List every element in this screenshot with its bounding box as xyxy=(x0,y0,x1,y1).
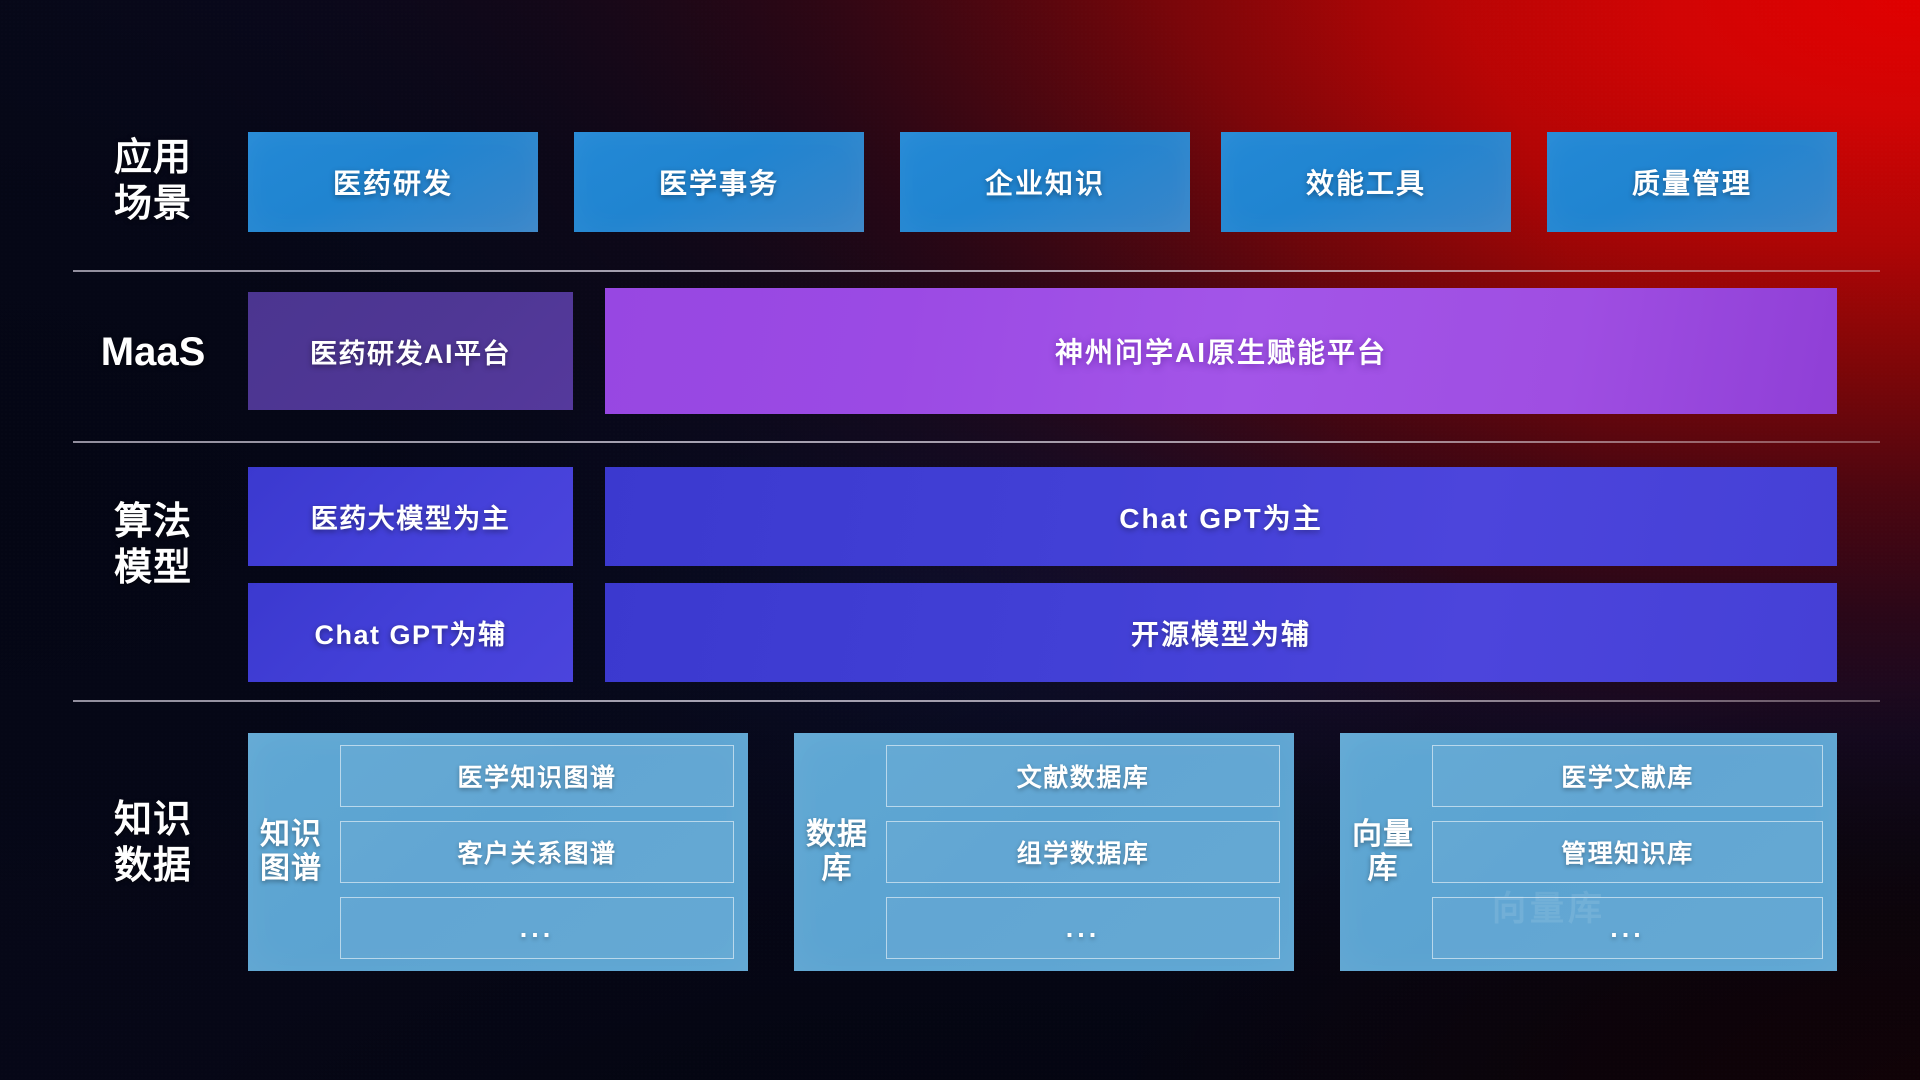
knowledge-panel-database[interactable]: 数据库 文献数据库 组学数据库 ... xyxy=(794,733,1294,971)
row-label-algorithm-line1: 算法 xyxy=(73,500,233,546)
knowledge-panel-database-items: 文献数据库 组学数据库 ... xyxy=(886,745,1280,959)
algorithm-card-row2-right[interactable]: 开源模型为辅 xyxy=(605,583,1837,682)
knowledge-item[interactable]: 医学文献库 xyxy=(1432,745,1823,807)
scenario-card-3-label: 企业知识 xyxy=(985,162,1105,202)
algorithm-card-row2-right-label: 开源模型为辅 xyxy=(1131,613,1311,653)
knowledge-item[interactable]: 文献数据库 xyxy=(886,745,1280,807)
divider-maas-algorithm xyxy=(73,441,1880,443)
row-label-scenarios-line1: 应用 xyxy=(73,136,233,182)
knowledge-panel-vector[interactable]: 向量库 医学文献库 管理知识库 ... 向量库 xyxy=(1340,733,1837,971)
algorithm-card-row1-left-label: 医药大模型为主 xyxy=(311,497,511,536)
knowledge-item[interactable]: 管理知识库 xyxy=(1432,821,1823,883)
algorithm-card-row2-left-label: Chat GPT为辅 xyxy=(314,613,506,652)
row-label-algorithm: 算法 模型 xyxy=(73,500,233,591)
knowledge-item-more[interactable]: ... xyxy=(340,897,734,959)
knowledge-panel-graph-items: 医学知识图谱 客户关系图谱 ... xyxy=(340,745,734,959)
row-label-scenarios: 应用 场景 xyxy=(73,136,233,227)
knowledge-item-more[interactable]: ... xyxy=(886,897,1280,959)
scenario-card-5[interactable]: 质量管理 xyxy=(1547,132,1837,232)
scenario-card-4[interactable]: 效能工具 xyxy=(1221,132,1511,232)
row-label-algorithm-line2: 模型 xyxy=(73,546,233,592)
knowledge-panel-database-title: 数据库 xyxy=(806,745,868,959)
knowledge-panel-vector-title: 向量库 xyxy=(1352,745,1414,959)
scenario-card-3[interactable]: 企业知识 xyxy=(900,132,1190,232)
algorithm-card-row1-right[interactable]: Chat GPT为主 xyxy=(605,467,1837,566)
scenario-card-4-label: 效能工具 xyxy=(1306,162,1426,202)
row-label-scenarios-line2: 场景 xyxy=(73,182,233,228)
scenario-card-5-label: 质量管理 xyxy=(1632,162,1752,202)
knowledge-panel-vector-items: 医学文献库 管理知识库 ... xyxy=(1432,745,1823,959)
row-label-knowledge-line2: 数据 xyxy=(73,844,233,890)
row-label-maas: MaaS xyxy=(73,328,233,376)
algorithm-card-row1-left[interactable]: 医药大模型为主 xyxy=(248,467,573,566)
algorithm-card-row1-right-label: Chat GPT为主 xyxy=(1119,497,1323,537)
knowledge-item[interactable]: 医学知识图谱 xyxy=(340,745,734,807)
row-label-knowledge-line1: 知识 xyxy=(73,798,233,844)
knowledge-item[interactable]: 组学数据库 xyxy=(886,821,1280,883)
knowledge-item-more[interactable]: ... xyxy=(1432,897,1823,959)
knowledge-panel-graph[interactable]: 知识图谱 医学知识图谱 客户关系图谱 ... xyxy=(248,733,748,971)
knowledge-panel-graph-title: 知识图谱 xyxy=(260,745,322,959)
divider-algorithm-knowledge xyxy=(73,700,1880,702)
maas-platform-card-left[interactable]: 医药研发AI平台 xyxy=(248,292,573,410)
scenario-card-1[interactable]: 医药研发 xyxy=(248,132,538,232)
scenario-card-2[interactable]: 医学事务 xyxy=(574,132,864,232)
knowledge-item[interactable]: 客户关系图谱 xyxy=(340,821,734,883)
scenario-card-2-label: 医学事务 xyxy=(659,162,779,202)
divider-scenarios-maas xyxy=(73,270,1880,272)
maas-platform-card-right-label: 神州问学AI原生赋能平台 xyxy=(1055,331,1387,371)
algorithm-card-row2-left[interactable]: Chat GPT为辅 xyxy=(248,583,573,682)
maas-platform-card-right[interactable]: 神州问学AI原生赋能平台 xyxy=(605,288,1837,414)
maas-platform-card-left-label: 医药研发AI平台 xyxy=(310,332,511,371)
slide-canvas: 应用 场景 医药研发 医学事务 企业知识 效能工具 质量管理 MaaS 医药研发… xyxy=(0,0,1920,1080)
scenario-card-1-label: 医药研发 xyxy=(333,162,453,202)
row-label-knowledge: 知识 数据 xyxy=(73,798,233,889)
